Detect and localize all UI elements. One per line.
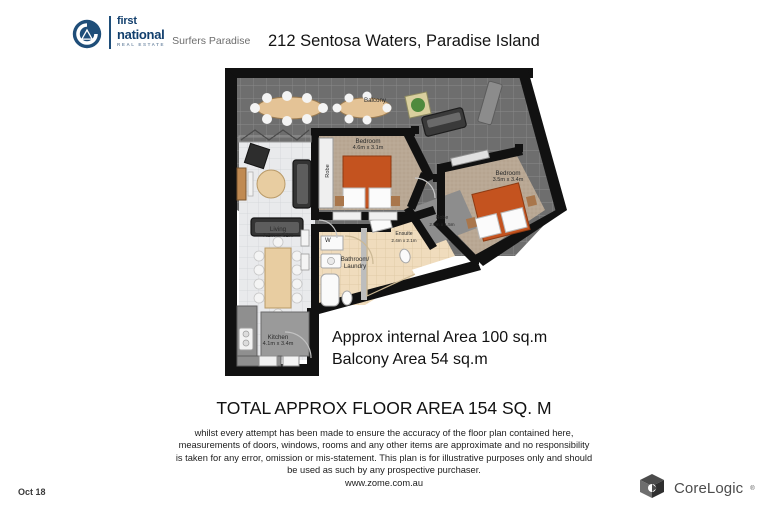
brand-first: first: [117, 16, 165, 27]
wall-north: [225, 68, 533, 78]
page-title: 212 Sentosa Waters, Paradise Island: [268, 32, 540, 51]
brand-sub: REAL ESTATE: [117, 43, 165, 48]
kitchen-sink-bowl-2: [243, 340, 249, 346]
wall-bedroom2-west: [437, 164, 445, 226]
disclaimer-line-3: is taken for any error, omission or mis-…: [0, 452, 768, 464]
internal-area-text: Approx internal Area 100 sq.m: [332, 327, 547, 349]
brand-national: national: [117, 28, 165, 41]
living-coffee-table: [257, 170, 285, 198]
living-sofa-horizontal: [251, 218, 303, 236]
brand-block: first national REAL ESTATE Surfers Parad…: [72, 16, 250, 49]
bathroom-toilet: [342, 291, 352, 305]
disclaimer-line-2: measurements of doors, windows, rooms an…: [0, 439, 768, 451]
wall-bedroom1-north: [311, 128, 415, 136]
bedroom-1-doorway-2: [369, 212, 397, 220]
wall-bedroom1-west: [311, 128, 319, 220]
wall-bathroom-ensuite-divider: [361, 228, 367, 300]
kitchen-fridge: [283, 356, 299, 366]
kitchen-island: [261, 312, 309, 356]
corelogic-cube-logo: [637, 471, 667, 506]
living-shelf-unit: [301, 254, 309, 270]
date-stamp: Oct 18: [18, 487, 46, 497]
balcony-area-text: Balcony Area 54 sq.m: [332, 349, 547, 371]
brand-office: Surfers Paradise: [172, 35, 250, 49]
kitchen-sink-bowl-1: [243, 331, 249, 337]
brand-wordmark: first national REAL ESTATE: [109, 16, 165, 49]
floor-plan-page: first national REAL ESTATE Surfers Parad…: [0, 0, 768, 512]
bedroom-1-bed: [335, 156, 400, 208]
wall-west: [225, 68, 237, 376]
area-summary: Approx internal Area 100 sq.m Balcony Ar…: [332, 327, 547, 370]
bedroom-1-doorway: [333, 212, 361, 220]
living-mirror: [248, 172, 253, 196]
living-tv-unit: [301, 230, 309, 246]
corelogic-name: CoreLogic: [674, 480, 743, 497]
washer-label: W: [325, 238, 331, 244]
corelogic-trademark: ®: [750, 486, 754, 492]
living-sideboard: [237, 168, 246, 200]
total-area-text: TOTAL APPROX FLOOR AREA 154 SQ. M: [0, 398, 768, 419]
living-sofa-vertical: [293, 160, 311, 208]
corelogic-branding: CoreLogic ®: [637, 471, 755, 506]
disclaimer-line-1: whilst every attempt has been made to en…: [0, 427, 768, 439]
bathroom-basin: [327, 257, 334, 264]
first-national-swoosh-logo: [72, 19, 102, 49]
wall-bathroom-west: [311, 224, 319, 310]
room-label-robe-1: Robe: [325, 154, 331, 188]
balcony-planter: [405, 92, 431, 118]
bathtub: [321, 274, 339, 306]
kitchen-cooktop: [259, 356, 277, 366]
